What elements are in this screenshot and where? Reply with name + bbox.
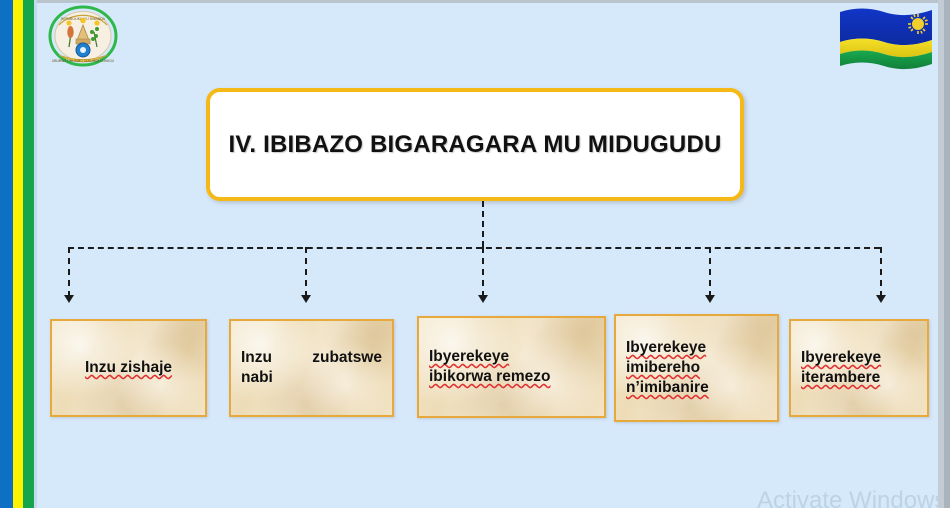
rwanda-coat-of-arms-icon: REPUBULIKA Y'U RWANDA UBUMWE UMURIMO GUK… bbox=[47, 5, 119, 70]
problem-box-5-label: Ibyerekeyeiterambere bbox=[801, 348, 917, 388]
svg-text:UBUMWE UMURIMO GUKUNDA IGIHU: UBUMWE UMURIMO GUKUNDA IGIHUGU bbox=[52, 59, 114, 63]
problem-box-4-label: Ibyerekeyeimiberehon’imibanire bbox=[626, 338, 767, 398]
rwanda-flag-icon bbox=[832, 2, 940, 72]
problem-box-2-label: Inzu zubatswe nabi bbox=[241, 348, 382, 388]
arrow-head-3 bbox=[478, 295, 488, 303]
connector-drop-2 bbox=[305, 247, 307, 297]
arrow-head-1 bbox=[64, 295, 74, 303]
slide-title-box: IV. IBIBAZO BIGARAGARA MU MIDUGUDU bbox=[206, 88, 744, 201]
connector-horizontal-bus bbox=[68, 247, 880, 249]
slide-top-edge bbox=[0, 0, 950, 3]
problem-box-1-label: Inzu zishaje bbox=[62, 358, 195, 378]
problem-box-3-label: Ibyerekeyeibikorwa remezo bbox=[429, 347, 594, 387]
problem-box-5[interactable]: Ibyerekeyeiterambere bbox=[789, 319, 929, 417]
problem-box-1[interactable]: Inzu zishaje bbox=[50, 319, 207, 417]
window-right-gutter-inner bbox=[938, 0, 944, 508]
problem-box-2[interactable]: Inzu zubatswe nabi bbox=[229, 319, 394, 417]
stripe-blue bbox=[0, 0, 13, 508]
stripe-yellow bbox=[13, 0, 23, 508]
activate-windows-watermark: Activate Windows bbox=[757, 487, 946, 508]
stripe-edge bbox=[34, 0, 37, 508]
connector-drop-5 bbox=[880, 247, 882, 297]
connector-drop-1 bbox=[68, 247, 70, 297]
problem-box-3[interactable]: Ibyerekeyeibikorwa remezo bbox=[417, 316, 606, 418]
problem-box-4[interactable]: Ibyerekeyeimiberehon’imibanire bbox=[614, 314, 779, 422]
connector-drop-3 bbox=[482, 247, 484, 297]
arrow-head-5 bbox=[876, 295, 886, 303]
arrow-head-4 bbox=[705, 295, 715, 303]
presentation-slide: REPUBULIKA Y'U RWANDA UBUMWE UMURIMO GUK… bbox=[0, 0, 950, 508]
connector-drop-4 bbox=[709, 247, 711, 297]
stripe-green bbox=[23, 0, 34, 508]
connector-stem-center bbox=[482, 201, 484, 247]
page-title: IV. IBIBAZO BIGARAGARA MU MIDUGUDU bbox=[228, 131, 721, 159]
arrow-head-2 bbox=[301, 295, 311, 303]
